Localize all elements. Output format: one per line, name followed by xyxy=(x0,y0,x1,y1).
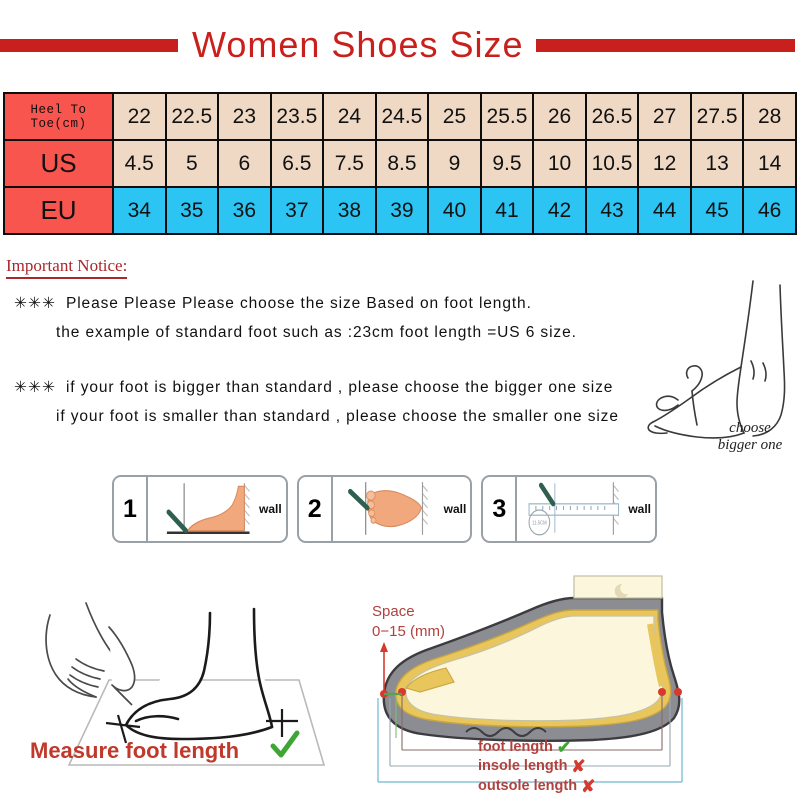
size-cell: 45 xyxy=(691,187,744,234)
choose-bigger-caption: choose bigger one xyxy=(695,420,800,455)
length-legend-row: outsole length✘ xyxy=(478,777,595,796)
size-cell: 23 xyxy=(218,93,271,140)
step-illustration-2: wall xyxy=(333,477,471,541)
notice-line-1-text: Please Please Please choose the size Bas… xyxy=(66,295,532,312)
step-panel-2: 2 wall xyxy=(297,475,473,543)
cross-icon: ✘ xyxy=(581,778,595,795)
size-cell: 12 xyxy=(638,140,691,187)
space-value: 0−15 (mm) xyxy=(372,622,445,642)
size-table-row: EU34353637383940414243444546 xyxy=(4,187,796,234)
space-annotation: Space 0−15 (mm) xyxy=(372,602,445,643)
notice-bullet-stars-2: ✳✳✳ xyxy=(14,379,56,396)
size-cell: 10 xyxy=(533,140,586,187)
step-panel-1: 1 wall xyxy=(112,475,288,543)
size-cell: 41 xyxy=(481,187,534,234)
size-cell: 24.5 xyxy=(376,93,429,140)
choose-caption-line-2: bigger one xyxy=(695,437,800,454)
ruler-badge-text: 11.5CM xyxy=(532,520,547,527)
length-legend: foot length✔insole length✘outsole length… xyxy=(478,738,595,796)
step-illustration-3: 11.5CM wall xyxy=(517,477,655,541)
size-cell: 5 xyxy=(166,140,219,187)
size-cell: 4.5 xyxy=(113,140,166,187)
size-cell: 25 xyxy=(428,93,481,140)
size-cell: 39 xyxy=(376,187,429,234)
title-rule-left xyxy=(0,39,178,52)
size-cell: 14 xyxy=(743,140,796,187)
notice-line-4: if your foot is smaller than standard , … xyxy=(56,408,619,426)
size-cell: 38 xyxy=(323,187,376,234)
size-row-label: US xyxy=(4,140,113,187)
size-row-label: Heel To Toe(cm) xyxy=(4,93,113,140)
size-cell: 42 xyxy=(533,187,586,234)
size-cell: 7.5 xyxy=(323,140,376,187)
size-row-label: EU xyxy=(4,187,113,234)
wall-label-2: wall xyxy=(444,502,467,516)
notice-line-1: ✳✳✳Please Please Please choose the size … xyxy=(14,294,532,313)
size-cell: 37 xyxy=(271,187,324,234)
length-legend-text: foot length xyxy=(478,738,553,757)
measure-foot-caption: Measure foot length xyxy=(30,738,239,764)
size-cell: 26.5 xyxy=(586,93,639,140)
size-cell: 27.5 xyxy=(691,93,744,140)
cross-icon: ✘ xyxy=(571,758,585,775)
size-cell: 25.5 xyxy=(481,93,534,140)
page-title: Women Shoes Size xyxy=(178,24,536,66)
check-icon: ✔ xyxy=(557,739,571,756)
choose-caption-line-1: choose xyxy=(695,420,800,437)
space-label: Space xyxy=(372,602,445,622)
measure-check-icon xyxy=(268,728,302,762)
length-legend-text: outsole length xyxy=(478,777,577,796)
size-cell: 6 xyxy=(218,140,271,187)
size-cell: 44 xyxy=(638,187,691,234)
size-cell: 6.5 xyxy=(271,140,324,187)
page-title-row: Women Shoes Size xyxy=(0,22,800,68)
size-cell: 9 xyxy=(428,140,481,187)
size-cell: 43 xyxy=(586,187,639,234)
size-cell: 23.5 xyxy=(271,93,324,140)
size-table-row: Heel To Toe(cm)2222.52323.52424.52525.52… xyxy=(4,93,796,140)
size-cell: 10.5 xyxy=(586,140,639,187)
step-number-3: 3 xyxy=(483,477,517,541)
size-cell: 34 xyxy=(113,187,166,234)
length-legend-row: foot length✔ xyxy=(478,738,595,757)
step-number-2: 2 xyxy=(299,477,333,541)
length-legend-row: insole length✘ xyxy=(478,757,595,776)
size-table-row: US4.5566.57.58.599.51010.5121314 xyxy=(4,140,796,187)
size-cell: 22.5 xyxy=(166,93,219,140)
size-cell: 40 xyxy=(428,187,481,234)
notice-line-2: the example of standard foot such as :23… xyxy=(56,324,577,342)
notice-line-3-text: if your foot is bigger than standard , p… xyxy=(66,379,613,396)
notice-bullet-stars: ✳✳✳ xyxy=(14,295,56,312)
size-cell: 9.5 xyxy=(481,140,534,187)
wall-label-3: wall xyxy=(628,502,651,516)
size-conversion-table: Heel To Toe(cm)2222.52323.52424.52525.52… xyxy=(3,92,797,235)
length-legend-text: insole length xyxy=(478,757,567,776)
measurement-steps: 1 wall 2 xyxy=(112,475,657,543)
size-cell: 36 xyxy=(218,187,271,234)
size-cell: 46 xyxy=(743,187,796,234)
size-cell: 28 xyxy=(743,93,796,140)
size-cell: 8.5 xyxy=(376,140,429,187)
size-cell: 35 xyxy=(166,187,219,234)
size-cell: 22 xyxy=(113,93,166,140)
size-cell: 27 xyxy=(638,93,691,140)
notice-line-3: ✳✳✳if your foot is bigger than standard … xyxy=(14,378,613,397)
step-panel-3: 3 xyxy=(481,475,657,543)
size-cell: 26 xyxy=(533,93,586,140)
wall-label-1: wall xyxy=(259,502,282,516)
title-rule-right xyxy=(536,39,796,52)
step-illustration-1: wall xyxy=(148,477,286,541)
important-notice-heading: Important Notice: xyxy=(6,256,127,279)
size-cell: 13 xyxy=(691,140,744,187)
size-cell: 24 xyxy=(323,93,376,140)
step-number-1: 1 xyxy=(114,477,148,541)
